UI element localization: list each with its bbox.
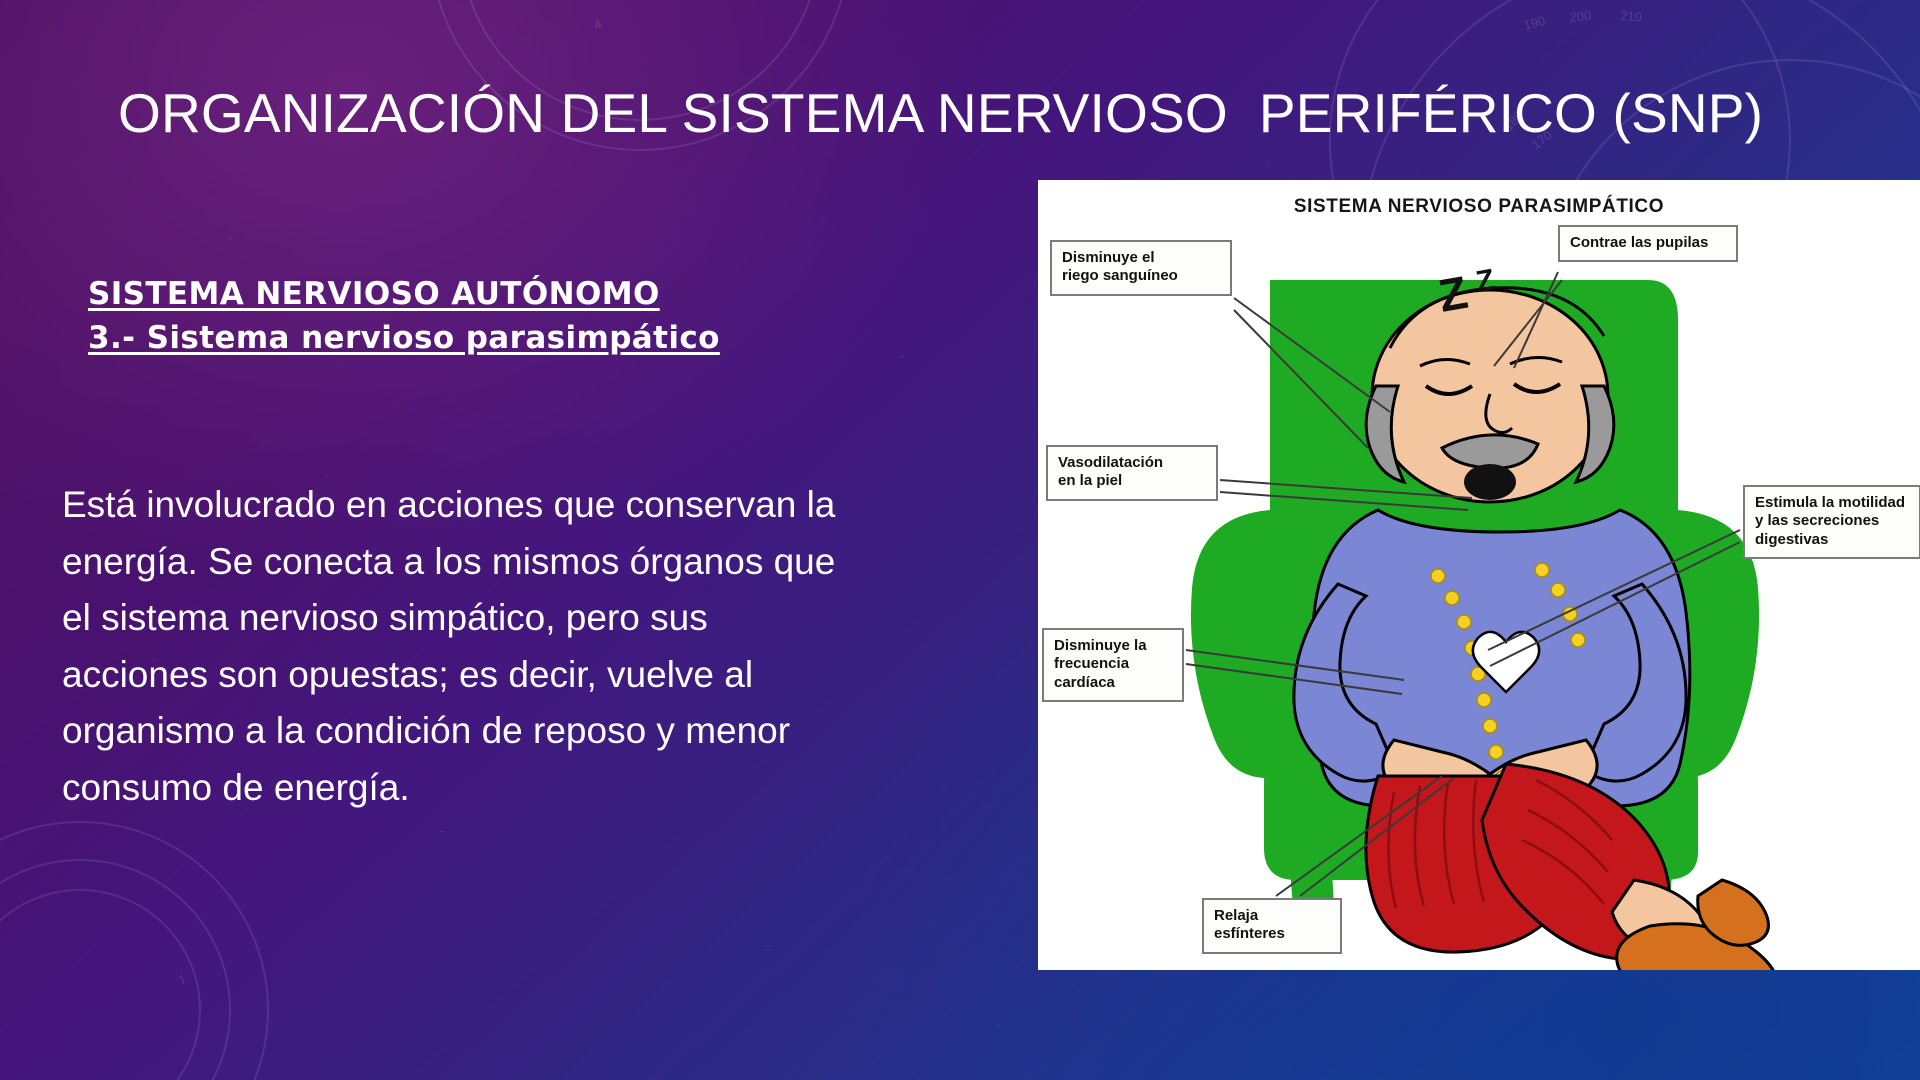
slippers-shape xyxy=(1612,880,1777,970)
svg-text:200: 200 xyxy=(1569,8,1592,25)
callout-relaja-esfinteres: Relaja esfínteres xyxy=(1202,898,1342,954)
callout-vasodilatacion-en-la-piel: Vasodilatación en la piel xyxy=(1046,445,1218,501)
callout-estimula-motilidad-secreciones: Estimula la motilidad y las secreciones … xyxy=(1743,485,1920,559)
slide-title: ORGANIZACIÓN DEL SISTEMA NERVIOSO PERIFÉ… xyxy=(118,83,1818,145)
sleeping-man-illustration: Z Z xyxy=(1038,180,1920,970)
svg-text:7: 7 xyxy=(175,972,190,988)
subheading-line-parasympathetic: 3.- Sistema nervioso parasimpático xyxy=(88,316,988,360)
callout-contrae-las-pupilas: Contrae las pupilas xyxy=(1558,225,1738,262)
svg-text:4: 4 xyxy=(592,16,604,33)
svg-text:210: 210 xyxy=(1620,8,1643,24)
callout-disminuye-frecuencia-cardiaca: Disminuye la frecuencia cardíaca xyxy=(1042,628,1184,702)
callout-disminuye-riego-sanguineo: Disminuye el riego sanguíneo xyxy=(1050,240,1232,296)
subheading-line-autonomous: SISTEMA NERVIOSO AUTÓNOMO xyxy=(88,272,988,316)
presentation-slide: 190 200 210 180 170 7 4 ORGANIZACIÓN DEL… xyxy=(0,0,1920,1080)
body-paragraph: Está involucrado en acciones que conserv… xyxy=(62,477,852,817)
section-subheading: SISTEMA NERVIOSO AUTÓNOMO 3.- Sistema ne… xyxy=(88,272,988,360)
svg-text:190: 190 xyxy=(1522,13,1547,33)
parasympathetic-diagram-image: SISTEMA NERVIOSO PARASIMPÁTICO xyxy=(1038,180,1920,970)
